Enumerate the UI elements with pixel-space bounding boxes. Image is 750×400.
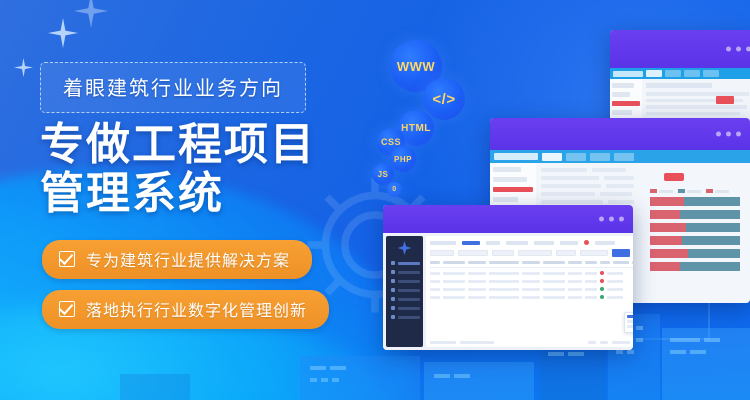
tech-bubble-label: </> — [432, 91, 455, 108]
headline-line-1: 专做工程项目 — [40, 120, 370, 169]
tagline-box: 着眼建筑行业业务方向 — [40, 62, 306, 113]
nav-tab — [665, 70, 681, 77]
window-titlebar — [383, 205, 633, 233]
sidebar-item — [389, 279, 420, 283]
app-logo-icon — [398, 241, 412, 255]
sidebar-item — [389, 288, 420, 292]
nav-tab — [646, 70, 662, 77]
status-badge — [664, 173, 684, 181]
nav-tab — [684, 70, 700, 77]
sparkle-icon — [74, 0, 108, 28]
table-row — [430, 287, 633, 291]
nav-tab — [614, 153, 634, 161]
sidebar-item — [389, 306, 420, 310]
nav-tab — [542, 153, 562, 161]
check-square-icon — [59, 301, 75, 317]
tech-bubble-label: WWW — [397, 59, 435, 74]
window-controls — [716, 132, 741, 137]
sidebar-item — [389, 297, 420, 301]
nav-tab — [590, 153, 610, 161]
tagline-text: 着眼建筑行业业务方向 — [63, 78, 283, 100]
page-title: 专做工程项目 管理系统 — [40, 120, 370, 218]
sidebar-item — [389, 315, 420, 319]
table-row — [430, 279, 633, 283]
stacked-bar-chart — [650, 189, 746, 275]
primary-action-button — [716, 96, 734, 104]
app-sidebar — [386, 236, 423, 347]
tech-bubble-php: PHP — [390, 146, 416, 172]
top-navigation — [430, 240, 633, 245]
tech-bubble-label: HTML — [401, 123, 431, 134]
filter-bar — [430, 249, 633, 257]
headline-line-2: 管理系统 — [40, 169, 370, 218]
tech-bubble-code: </> — [423, 78, 465, 120]
feature-badge[interactable]: 专为建筑行业提供解决方案 — [42, 240, 312, 279]
app-navbar — [490, 150, 750, 163]
table-row — [430, 271, 633, 275]
search-button — [612, 249, 630, 257]
feature-badge-label: 专为建筑行业提供解决方案 — [86, 247, 290, 271]
tech-bubble-label: 0 — [392, 186, 396, 193]
table-header — [430, 261, 633, 268]
sidebar-item — [389, 261, 420, 265]
tech-bubble-label: CSS — [381, 137, 401, 147]
nav-tab — [703, 70, 719, 77]
tech-bubble-label: PHP — [394, 155, 412, 164]
window-controls — [726, 47, 750, 52]
chart-legend — [650, 189, 746, 193]
window-controls — [599, 217, 624, 222]
app-body — [383, 233, 633, 350]
feature-badge[interactable]: 落地执行行业数字化管理创新 — [42, 290, 329, 329]
promo-banner: WWW </> HTML CSS PHP JS 0 — [0, 0, 750, 400]
window-titlebar — [490, 118, 750, 150]
sparkle-icon — [14, 58, 33, 77]
window-titlebar — [610, 30, 750, 68]
dashboard-screenshot-front — [383, 205, 633, 350]
tech-bubble-zero: 0 — [387, 182, 402, 197]
sidebar-item — [389, 270, 420, 274]
app-navbar — [610, 68, 750, 79]
context-menu — [624, 312, 633, 333]
app-logo — [494, 153, 538, 160]
table-footer — [430, 341, 633, 344]
table-row — [430, 295, 633, 299]
check-square-icon — [59, 251, 75, 267]
tech-bubble-label: JS — [378, 170, 389, 179]
menu-item — [627, 325, 633, 328]
menu-item — [627, 320, 633, 323]
menu-item — [627, 315, 633, 318]
feature-badge-label: 落地执行行业数字化管理创新 — [86, 297, 307, 321]
feature-badge-list: 专为建筑行业提供解决方案 落地执行行业数字化管理创新 — [42, 240, 329, 340]
notification-badge — [584, 240, 589, 245]
app-content — [426, 236, 633, 347]
nav-tab — [566, 153, 586, 161]
app-logo — [613, 71, 643, 77]
